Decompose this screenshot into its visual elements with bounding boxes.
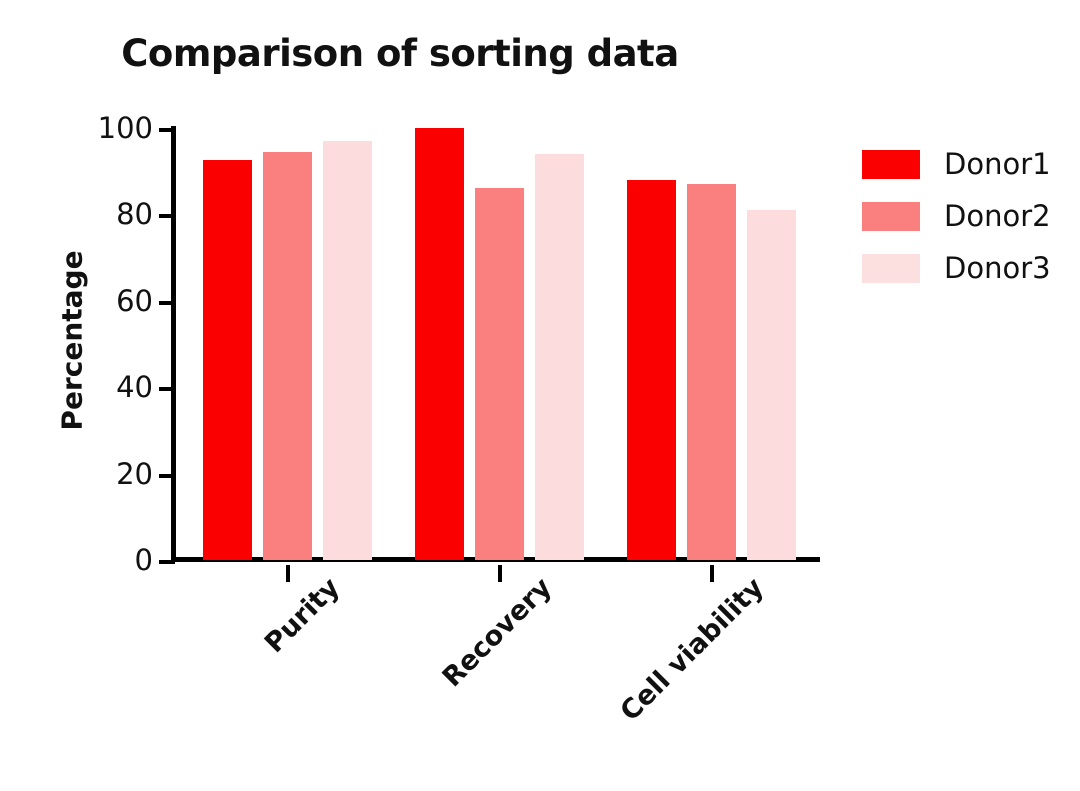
y-tick-mark [159,301,175,305]
y-tick-label: 40 [116,370,153,404]
legend-label: Donor2 [944,199,1051,233]
bar [627,180,676,560]
bar [475,188,524,560]
chart-title: Comparison of sorting data [0,32,800,75]
x-tick-mark [710,565,714,582]
bar [747,210,796,560]
plot-area: 020406080100 [175,128,820,560]
y-tick-mark [159,128,175,132]
bar [415,128,464,560]
legend-color-swatch [862,150,920,179]
bar-chart: Comparison of sorting data 020406080100 … [0,0,1080,791]
y-tick-label: 100 [98,111,153,145]
y-tick-mark [159,387,175,391]
chart-legend: Donor1Donor2Donor3 [862,138,1062,294]
legend-item[interactable]: Donor1 [862,138,1062,190]
legend-label: Donor1 [944,147,1051,181]
legend-color-swatch [862,254,920,283]
bar [687,184,736,560]
y-tick-mark [159,214,175,218]
x-axis-category-label: Purity [258,572,345,659]
y-tick-label: 0 [135,543,153,577]
x-axis-category-label: Recovery [436,572,557,693]
bar [263,152,312,560]
y-axis-title-label: Percentage [56,250,89,430]
bar [535,154,584,560]
legend-color-swatch [862,202,920,231]
legend-item[interactable]: Donor2 [862,190,1062,242]
x-tick-mark [286,565,290,582]
y-tick-label: 80 [116,197,153,231]
y-tick-mark [159,560,175,564]
x-tick-mark [498,565,502,582]
y-axis-title: Percentage [52,240,92,440]
y-tick-label: 20 [116,457,153,491]
y-tick-label: 60 [116,284,153,318]
y-tick-mark [159,474,175,478]
bar [323,141,372,560]
x-axis-category-label: Cell viability [614,572,769,727]
bar [203,160,252,560]
legend-item[interactable]: Donor3 [862,242,1062,294]
legend-label: Donor3 [944,251,1051,285]
